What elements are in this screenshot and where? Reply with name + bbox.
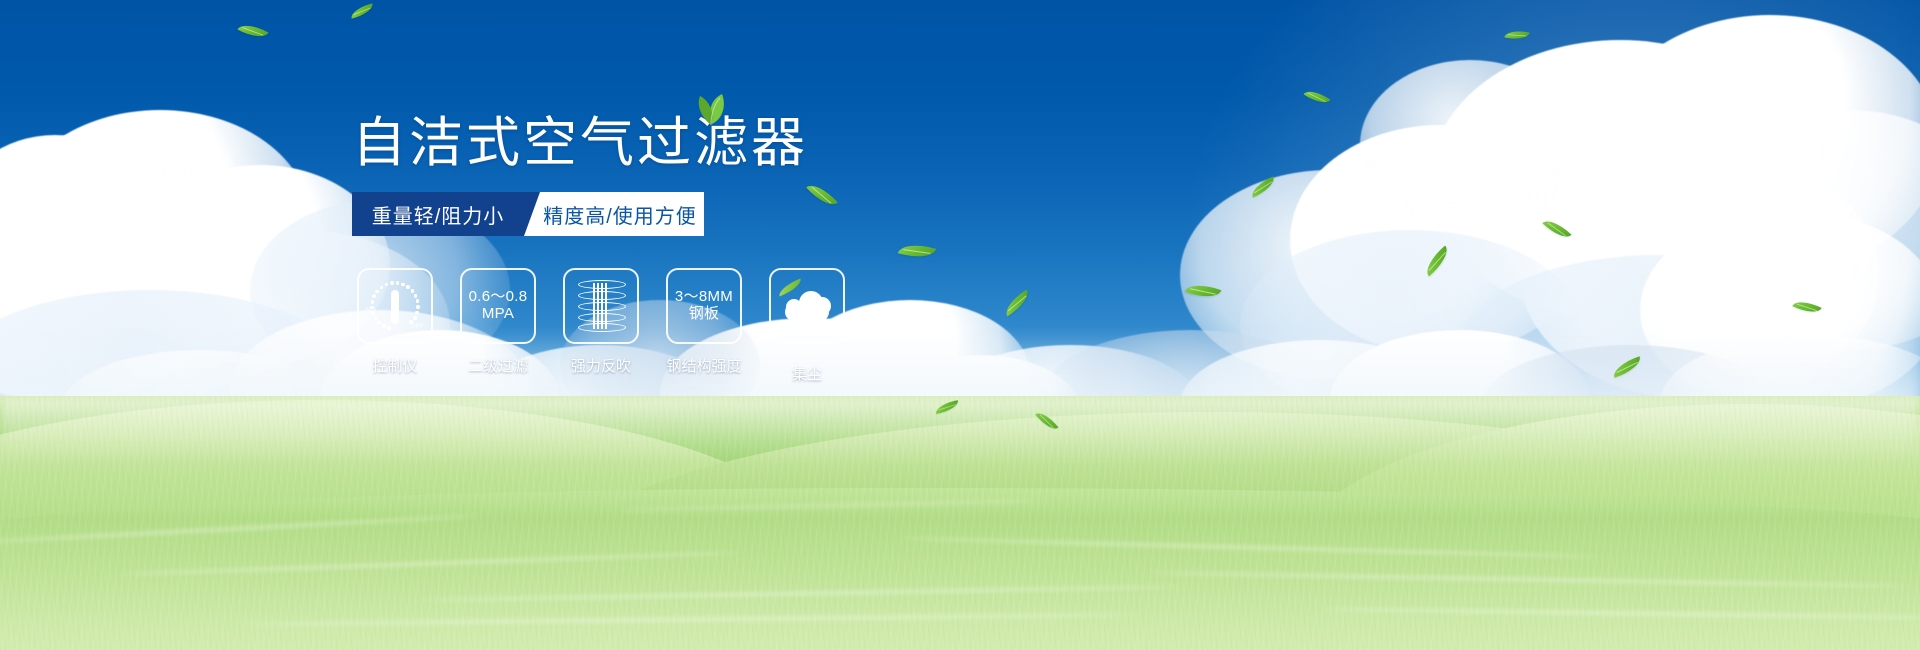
gauge-tick: [382, 324, 386, 328]
feature-caption: 钢结构强度: [666, 355, 741, 376]
gauge-tick: [370, 306, 374, 310]
tab-weight-resistance[interactable]: 重量轻/阻力小: [352, 192, 524, 236]
gauge-off-label: OFF: [411, 324, 424, 330]
air-label: Air: [781, 327, 833, 339]
gauge-tick: [415, 311, 419, 315]
pressure-unit-text: MPA: [482, 306, 514, 323]
gauge-tick: [406, 285, 410, 289]
steel-thickness-text: 3～8MM: [675, 289, 733, 306]
gauge-tick: [413, 316, 417, 320]
feature-item-blowback[interactable]: 强力反吹: [562, 268, 640, 384]
gauge-tick: [371, 300, 375, 304]
feature-icon-box: NO OFF: [357, 268, 433, 344]
steel-material-text: 钢板: [689, 306, 720, 323]
feature-icon-box: [563, 268, 639, 344]
feature-item-controller[interactable]: NO OFF 控制仪: [356, 268, 434, 384]
feature-caption: 控制仪: [372, 355, 417, 376]
gauge-tick: [377, 321, 381, 325]
feature-caption: 二级过滤: [468, 355, 528, 376]
feature-item-dust[interactable]: Air 集尘: [768, 268, 846, 384]
gauge-tick: [372, 294, 376, 298]
gauge-tick: [416, 305, 420, 309]
gauge-tick: [416, 299, 420, 303]
gauge-tick: [375, 290, 379, 294]
gauge-tick: [387, 326, 391, 330]
banner-content: 自洁式空气过滤器 重量轻/阻力小 精度高/使用方便: [0, 0, 1920, 650]
gauge-icon: NO OFF: [367, 278, 423, 334]
gauge-tick: [390, 281, 394, 285]
gauge-tick: [396, 281, 400, 285]
pressure-range-text: 0.6～0.8: [469, 289, 528, 306]
feature-caption: 强力反吹: [571, 355, 631, 376]
feature-item-pressure[interactable]: 0.6～0.8 MPA 二级过滤: [459, 268, 537, 384]
gauge-tick: [374, 316, 378, 320]
gauge-tick: [385, 283, 389, 287]
hero-banner: 自洁式空气过滤器 重量轻/阻力小 精度高/使用方便: [0, 0, 1920, 650]
feature-icon-box: 3～8MM 钢板: [666, 268, 742, 344]
gauge-tick: [380, 286, 384, 290]
title-leaf-icon: [682, 92, 736, 126]
tab-precision-ease[interactable]: 精度高/使用方便: [524, 192, 704, 236]
tab-weight-resistance-label: 重量轻/阻力小: [372, 200, 505, 229]
gauge-tick: [401, 283, 405, 287]
gauge-tick: [411, 289, 415, 293]
feature-caption: 集尘: [792, 363, 822, 384]
feature-icon-row: NO OFF 控制仪 0.6～0.8 MPA 二级过滤: [356, 268, 846, 384]
leaf-streak-icon: [776, 278, 803, 296]
filter-stack-icon: [575, 279, 627, 333]
page-title: 自洁式空气过滤器: [352, 116, 808, 170]
tab-precision-ease-label: 精度高/使用方便: [543, 200, 697, 229]
feature-item-steel[interactable]: 3～8MM 钢板 钢结构强度: [665, 268, 743, 384]
gauge-tick: [371, 311, 375, 315]
gauge-tick: [414, 294, 418, 298]
air-cloud-icon: Air: [781, 289, 833, 323]
feature-icon-box: 0.6～0.8 MPA: [460, 268, 536, 344]
feature-icon-box: Air: [769, 268, 845, 344]
